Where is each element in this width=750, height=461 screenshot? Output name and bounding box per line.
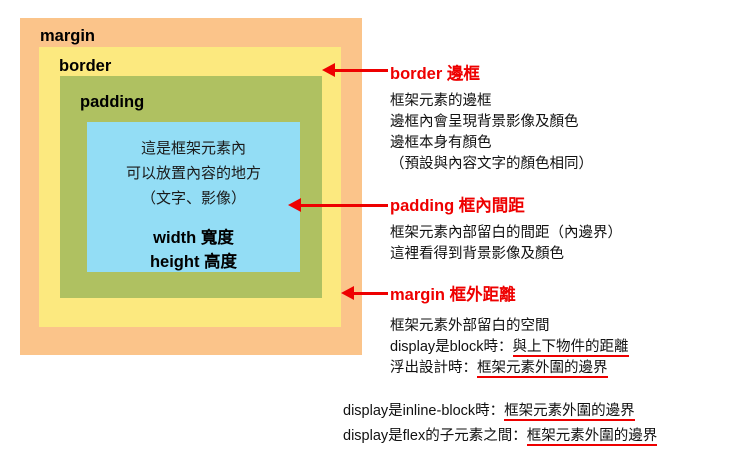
arrow-shaft — [352, 292, 388, 295]
inline-block-prefix: display是inline-block時： — [343, 403, 504, 419]
flex-underlined: 框架元素外圍的邊界 — [527, 428, 658, 446]
inline-block-underlined: 框架元素外圍的邊界 — [504, 403, 635, 421]
padding-annotation: padding 框內間距 框架元素內部留白的間距（內邊界） 這裡看得到背景影像及… — [390, 192, 622, 265]
padding-annotation-line: 框架元素內部留白的間距（內邊界） — [390, 223, 622, 244]
arrow-shaft — [299, 204, 388, 207]
flex-prefix: display是flex的子元素之間： — [343, 428, 527, 444]
arrow-shaft — [333, 69, 388, 72]
box-model-diagram-canvas: margin border padding 這是框架元素內 可以放置內容的地方 … — [0, 0, 750, 461]
padding-annotation-line: 這裡看得到背景影像及顏色 — [390, 244, 622, 265]
padding-box-label: padding — [80, 93, 144, 112]
margin-annotation-body: 框架元素外部留白的空間 display是block時：與上下物件的距離 浮出設計… — [390, 316, 629, 379]
margin-line3-underlined: 框架元素外圍的邊界 — [477, 360, 608, 378]
border-annotation-line: 邊框內會呈現背景影像及顏色 — [390, 112, 593, 133]
padding-callout-arrow-icon — [288, 198, 388, 212]
content-line-2: 可以放置內容的地方 — [87, 161, 300, 186]
margin-line2-prefix: display是block時： — [390, 339, 513, 355]
border-callout-arrow-icon — [322, 63, 388, 77]
margin-callout-arrow-icon — [341, 286, 388, 300]
width-label: width 寬度 — [87, 226, 300, 250]
margin-box-label: margin — [40, 27, 95, 46]
border-annotation-line: 邊框本身有顏色 — [390, 133, 593, 154]
border-annotation-heading: border 邊框 — [390, 60, 593, 84]
padding-annotation-body: 框架元素內部留白的間距（內邊界） 這裡看得到背景影像及顏色 — [390, 223, 622, 265]
content-box-description: 這是框架元素內 可以放置內容的地方 （文字、影像） — [87, 136, 300, 211]
border-annotation-line: 框架元素的邊框 — [390, 91, 593, 112]
margin-annotation-heading: margin 框外距離 — [390, 281, 629, 305]
height-label: height 高度 — [87, 250, 300, 274]
content-line-3: （文字、影像） — [87, 186, 300, 211]
margin-annotation-line: display是block時：與上下物件的距離 — [390, 337, 629, 358]
border-annotation: border 邊框 框架元素的邊框 邊框內會呈現背景影像及顏色 邊框本身有顏色 … — [390, 60, 593, 175]
margin-annotation-line: 框架元素外部留白的空間 — [390, 316, 629, 337]
margin-line2-underlined: 與上下物件的距離 — [513, 339, 629, 357]
margin-annotation-line: 浮出設計時：框架元素外圍的邊界 — [390, 358, 629, 379]
content-line-1: 這是框架元素內 — [87, 136, 300, 161]
margin-line3-prefix: 浮出設計時： — [390, 360, 477, 376]
border-annotation-body: 框架元素的邊框 邊框內會呈現背景影像及顏色 邊框本身有顏色 （預設與內容文字的顏… — [390, 91, 593, 175]
display-flex-note: display是flex的子元素之間：框架元素外圍的邊界 — [343, 424, 657, 449]
display-inline-block-note: display是inline-block時：框架元素外圍的邊界 — [343, 399, 657, 424]
border-annotation-line: （預設與內容文字的顏色相同） — [390, 154, 593, 175]
display-mode-notes: display是inline-block時：框架元素外圍的邊界 display是… — [343, 399, 657, 449]
margin-annotation: margin 框外距離 框架元素外部留白的空間 display是block時：與… — [390, 281, 629, 379]
border-box-label: border — [59, 57, 111, 76]
padding-annotation-heading: padding 框內間距 — [390, 192, 622, 216]
content-box-dimensions: width 寬度 height 高度 — [87, 226, 300, 274]
